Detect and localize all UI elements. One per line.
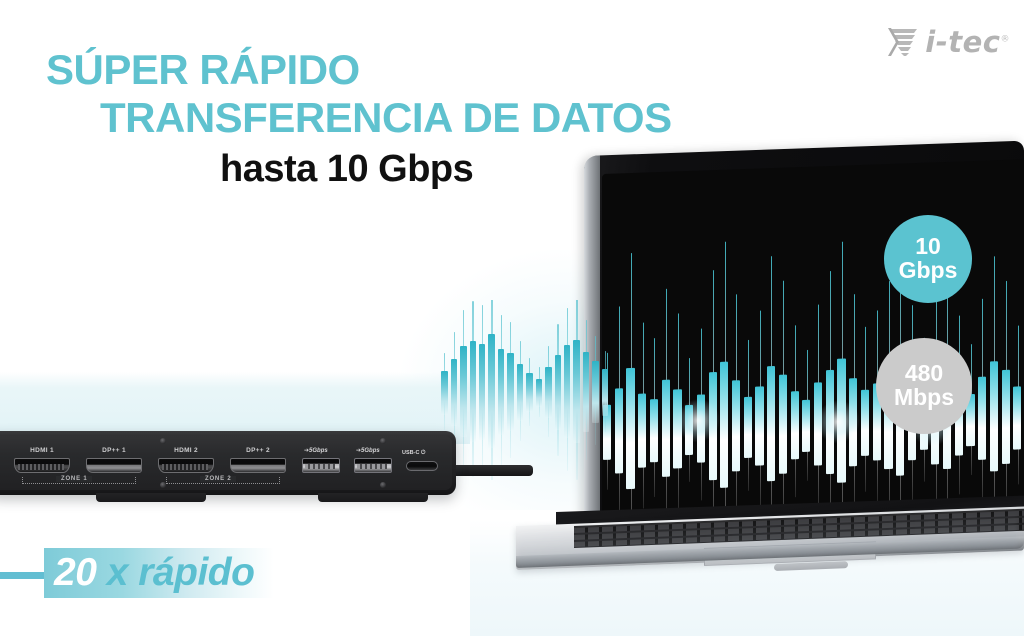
equalizer-bar: [791, 391, 799, 460]
port-usb-c[interactable]: [406, 461, 438, 471]
badge-10gbps: 10 Gbps: [884, 215, 972, 303]
equalizer-bar: [662, 380, 670, 477]
zone-2-label: ZONE 2: [200, 476, 236, 482]
port-usb-a-2[interactable]: [354, 458, 392, 473]
chevron-stripes-icon: [887, 25, 921, 59]
displayport-connector-icon: [230, 458, 286, 473]
equalizer-bar: [451, 359, 457, 426]
screw-icon: [160, 438, 166, 444]
equalizer-visualization-inside: [602, 159, 1024, 518]
dock-foot: [96, 493, 206, 502]
badge-value: 10: [915, 235, 941, 259]
equalizer-bar: [470, 341, 476, 442]
equalizer-bar: [1002, 370, 1010, 464]
equalizer-bar: [583, 352, 589, 432]
port-hdmi-1[interactable]: [14, 458, 70, 473]
usb-a-connector-icon: [354, 458, 392, 473]
dock-front-panel: HDMI 1 DP++ 1 ZONE 1 HDMI 2 DP++ 2 ZONE …: [0, 436, 452, 490]
registered-trademark-icon: ®: [1001, 34, 1011, 44]
docking-station: HDMI 1 DP++ 1 ZONE 1 HDMI 2 DP++ 2 ZONE …: [0, 431, 468, 503]
equalizer-bar: [488, 334, 494, 448]
displayport-connector-icon: [86, 458, 142, 473]
equalizer-bar: [498, 349, 504, 435]
speed-badge: 20 x rápido: [0, 548, 340, 604]
port-label-hdmi-1: HDMI 1: [14, 447, 70, 454]
port-label-dp-2: DP++ 2: [230, 447, 286, 454]
screw-icon: [380, 482, 386, 488]
equalizer-bar: [555, 355, 561, 430]
equalizer-bar: [545, 367, 551, 419]
equalizer-bar: [638, 393, 646, 468]
speed-badge-suffix: x rápido: [107, 551, 255, 594]
equalizer-bar: [441, 371, 447, 415]
equalizer-bar: [990, 361, 998, 471]
equalizer-bar: [517, 364, 523, 421]
equalizer-bar: [650, 399, 658, 463]
equalizer-bar: [479, 344, 485, 440]
port-label-dp-1: DP++ 1: [86, 447, 142, 454]
usb-c-connector-icon: [406, 461, 438, 471]
equalizer-bar: [767, 366, 775, 482]
equalizer-bar: [978, 377, 986, 460]
equalizer-bar: [720, 361, 728, 488]
hdmi-connector-icon: [158, 458, 214, 473]
equalizer-bar: [626, 368, 634, 489]
equalizer-bar: [779, 374, 787, 473]
zone-1-label: ZONE 1: [56, 476, 92, 482]
equalizer-bar: [507, 353, 513, 431]
equalizer-bar: [802, 399, 810, 452]
usb-a-connector-icon: [302, 458, 340, 473]
superspeed-5gbps-icon-1: ➔5Gbps: [304, 447, 328, 454]
equalizer-bar: [732, 381, 740, 472]
dock-cable: [443, 465, 533, 476]
equalizer-bar: [744, 397, 752, 458]
equalizer-bar: [755, 386, 763, 466]
badge-480mbps: 480 Mbps: [876, 338, 972, 434]
equalizer-bar: [564, 345, 570, 438]
poster-canvas: SÚPER RÁPIDO TRANSFERENCIA DE DATOS hast…: [0, 0, 1024, 636]
equalizer-bar: [1013, 386, 1021, 450]
port-label-usb-c: USB-C ⏻: [402, 450, 425, 457]
equalizer-bar: [615, 388, 623, 474]
port-dp-2[interactable]: [230, 458, 286, 473]
superspeed-5gbps-icon-2: ➔5Gbps: [356, 447, 380, 454]
equalizer-bar: [861, 390, 869, 456]
badge-unit: Gbps: [899, 259, 958, 283]
headline-line-1: SÚPER RÁPIDO: [46, 48, 806, 92]
equalizer-bar: [460, 346, 466, 437]
dock-foot: [318, 493, 428, 502]
speed-badge-number: 20: [54, 551, 96, 594]
laptop-screen: [602, 159, 1024, 518]
hdmi-connector-icon: [14, 458, 70, 473]
badge-unit: Mbps: [894, 386, 954, 410]
equalizer-bar: [536, 379, 542, 408]
equalizer-bar: [602, 369, 608, 416]
badge-value: 480: [905, 362, 943, 386]
headline-line-2: TRANSFERENCIA DE DATOS: [100, 96, 806, 140]
port-hdmi-2[interactable]: [158, 458, 214, 473]
port-label-hdmi-2: HDMI 2: [158, 447, 214, 454]
speed-badge-text: 20 x rápido: [54, 551, 254, 595]
brand-logo: i-tec®: [887, 25, 1010, 59]
brand-logo-text: i-tec®: [925, 28, 1010, 57]
equalizer-bar: [573, 340, 579, 444]
screw-icon: [380, 438, 386, 444]
port-dp-1[interactable]: [86, 458, 142, 473]
equalizer-bar: [592, 361, 598, 423]
equalizer-bar: [526, 373, 532, 412]
port-usb-a-1[interactable]: [302, 458, 340, 473]
